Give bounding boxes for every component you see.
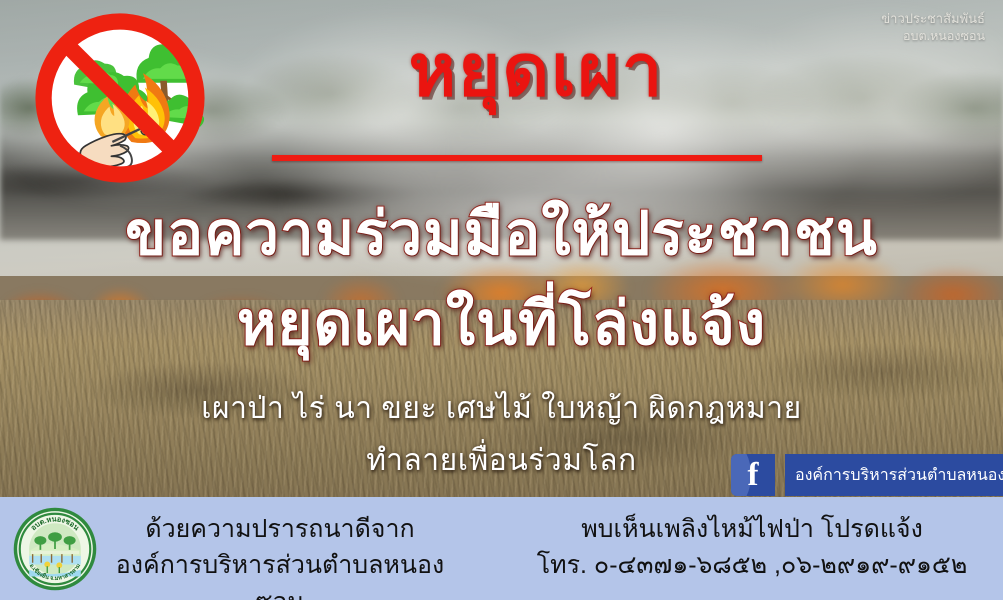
message-line-1: ขอความร่วมมือให้ประชาชน (0, 186, 1003, 281)
facebook-page-name[interactable]: องค์การบริหารส่วนตำบลหนองซอน (785, 454, 1003, 496)
warning-line-1: เผาป่า ไร่ นา ขยะ เศษไม้ ใบหญ้า ผิดกฎหมา… (0, 385, 1003, 432)
footer-report-prompt: พบเห็นเพลิงไหม้ไฟป่า โปรดแจ้ง (512, 511, 992, 547)
page-title: หยุดเผา (0, 12, 1003, 127)
footer-greeting-line: ด้วยความปรารถนาดีจาก (100, 511, 460, 547)
facebook-f-icon[interactable]: f (731, 454, 775, 496)
footer-left-block: ด้วยความปรารถนาดีจาก องค์การบริหารส่วนตำ… (100, 511, 460, 600)
headline-divider (272, 155, 762, 161)
footer-right-block: พบเห็นเพลิงไหม้ไฟป่า โปรดแจ้ง โทร. ๐-๔๓๗… (512, 511, 992, 584)
message-line-2: หยุดเผาในที่โล่งแจ้ง (0, 276, 1003, 371)
facebook-page-badge[interactable]: f องค์การบริหารส่วนตำบลหนองซอน (731, 454, 1003, 496)
municipal-seal-icon: อบต.หนองซอน อ.เชียงยืน จ.มหาสารคาม (12, 506, 98, 592)
footer-phone-numbers: โทร. ๐-๔๓๗๑-๖๘๕๒ ,๐๖-๒๙๑๙-๙๑๕๒ (512, 547, 992, 583)
poster-canvas: ข่าวประชาสัมพันธ์ อบต.หนองซอน หยุดเผา ขอ… (0, 0, 1003, 600)
footer-organization-name: องค์การบริหารส่วนตำบลหนองซอน (100, 547, 460, 600)
facebook-glyph: f (731, 455, 775, 495)
footer-bar: อบต.หนองซอน อ.เชียงยืน จ.มหาสารคาม ด้วยค… (0, 497, 1003, 600)
